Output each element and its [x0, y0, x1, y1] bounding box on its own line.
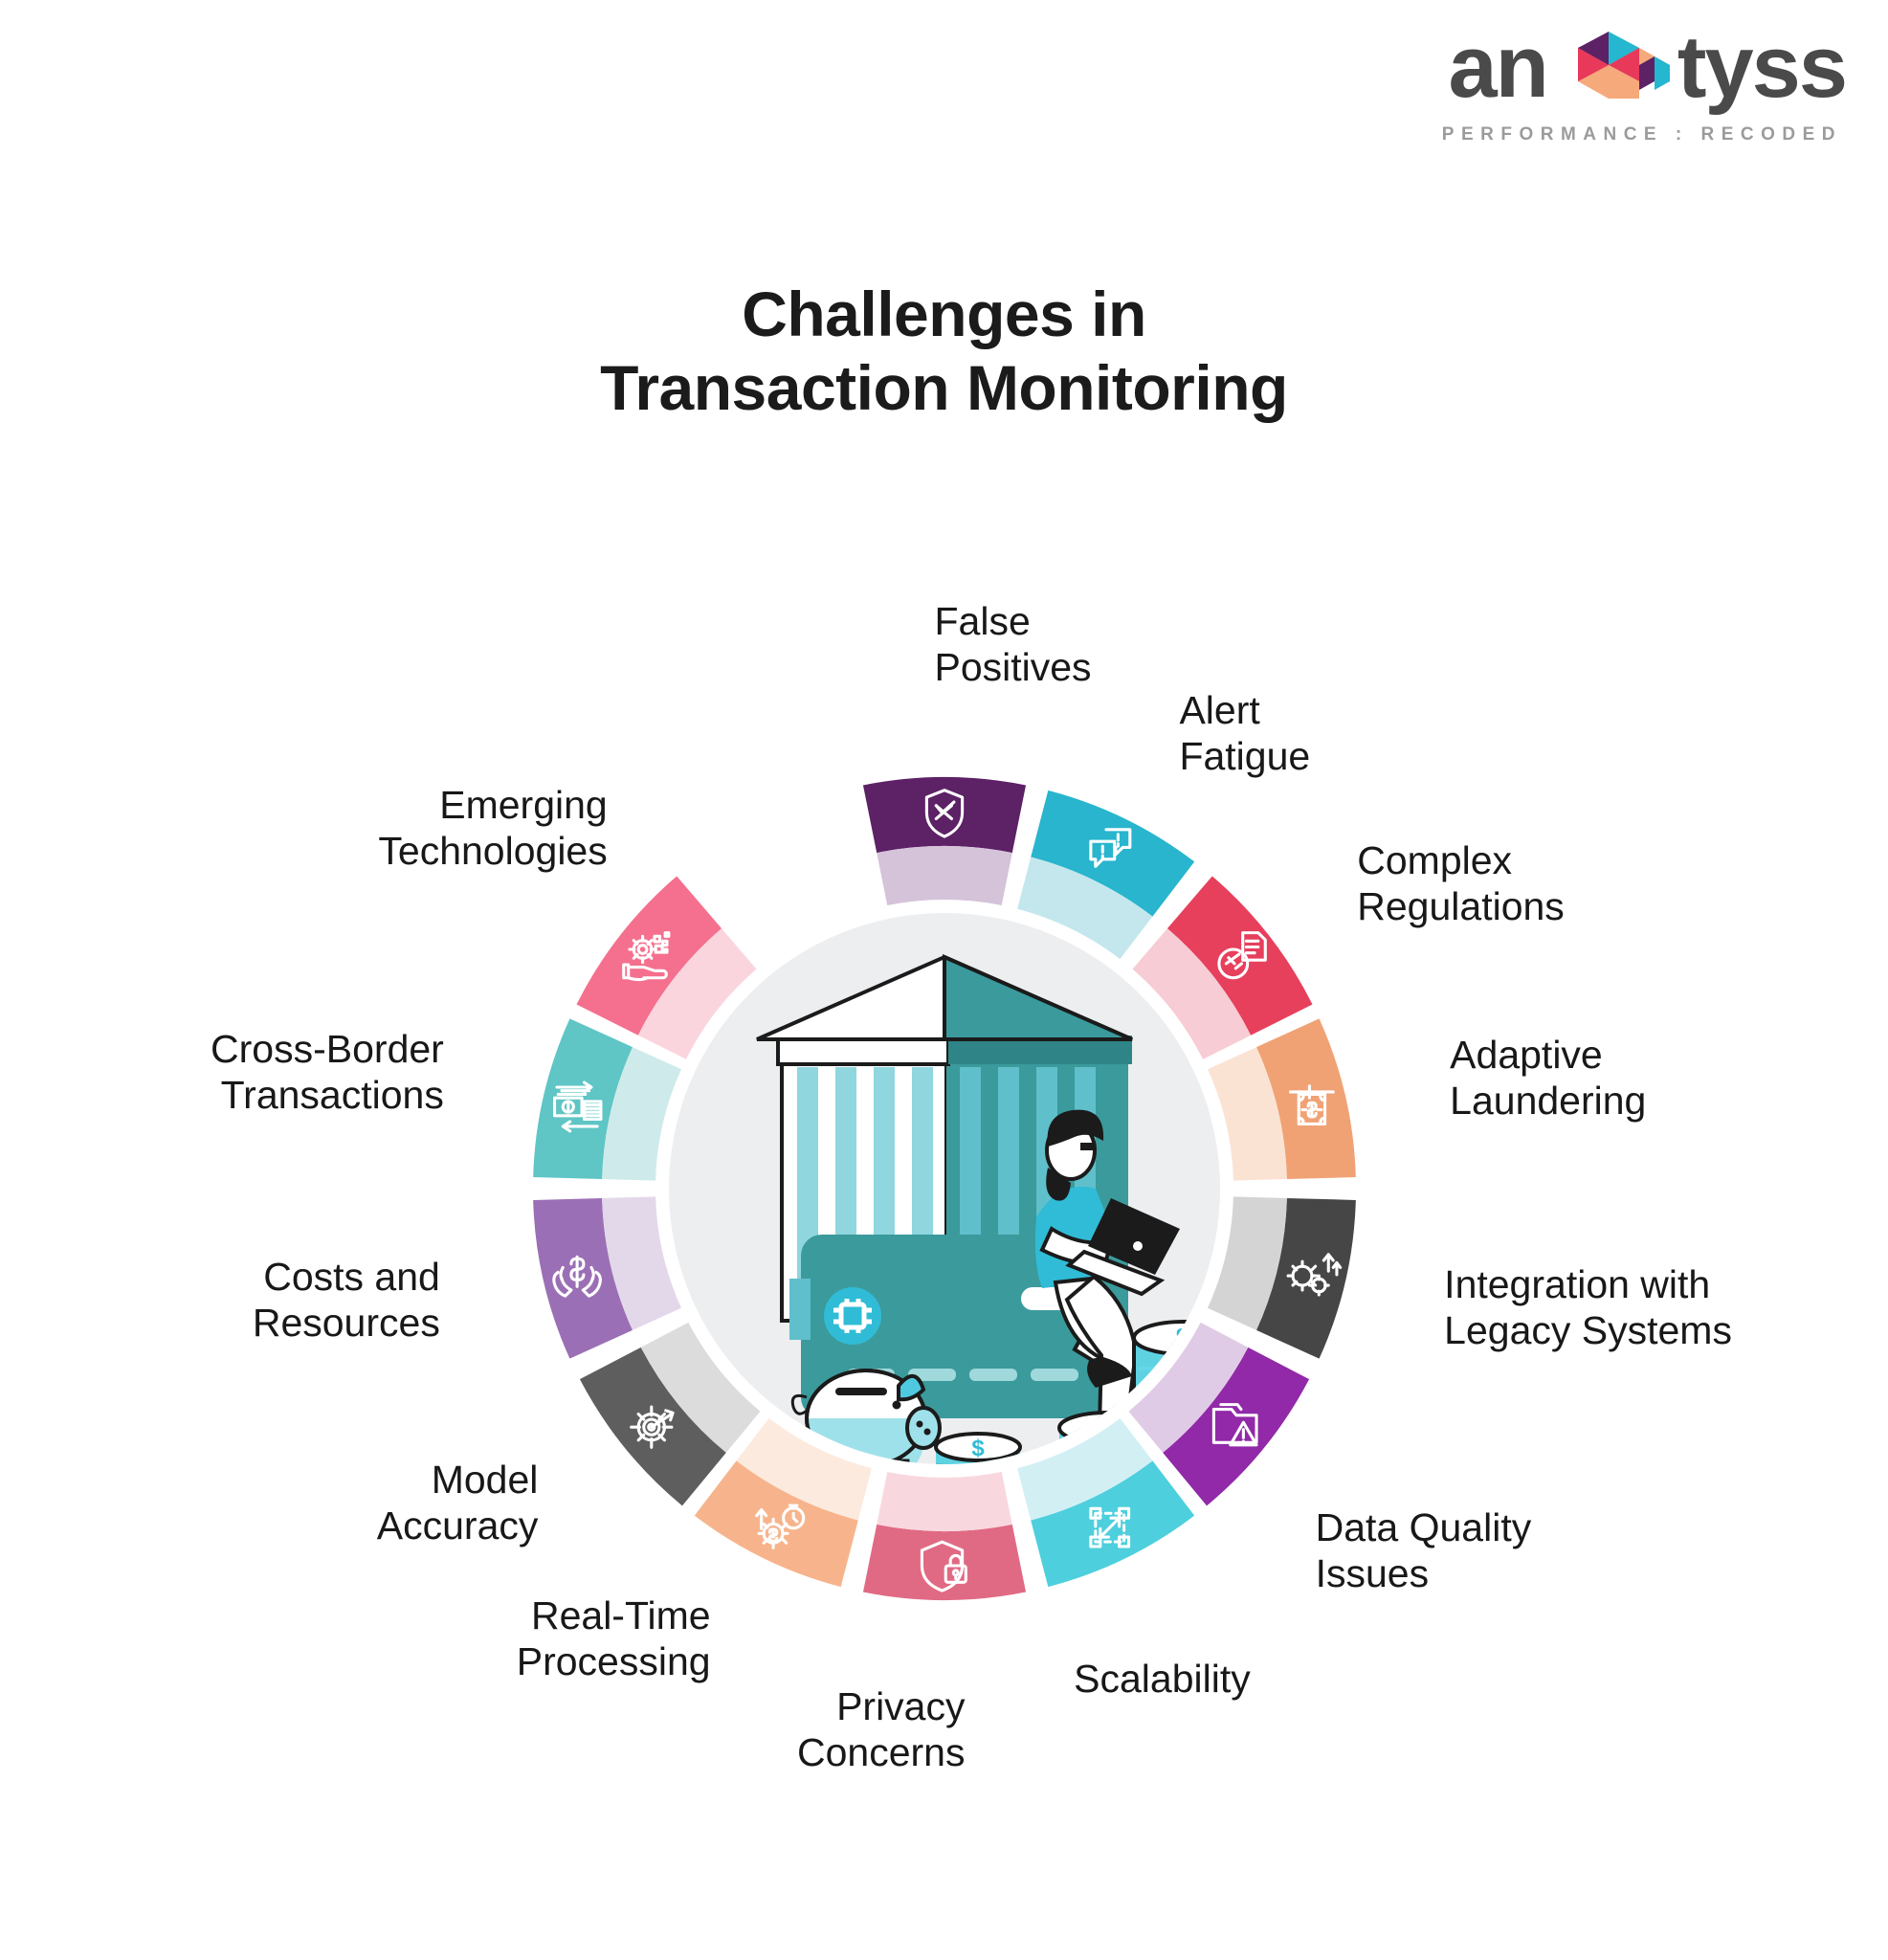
brand-wordmark: an tyss	[1396, 23, 1846, 111]
wheel-segment-label: Model Accuracy	[377, 1458, 539, 1549]
wheel-segment-label: Data Quality Issues	[1316, 1505, 1532, 1597]
wheel-segment-label: Real-Time Processing	[517, 1593, 711, 1685]
page-title: Challenges in Transaction Monitoring	[0, 278, 1888, 424]
svg-text:$: $	[971, 1436, 985, 1461]
wheel-segment-label: Privacy Concerns	[797, 1684, 965, 1776]
wheel-segment-inner[interactable]	[877, 846, 1012, 905]
wheel-segment-inner[interactable]	[877, 1472, 1012, 1531]
anatyss-cube-mark-icon	[1549, 27, 1676, 115]
wheel-segment-label: Cross-Border Transactions	[211, 1027, 444, 1119]
wheel-segment-label: False Positives	[935, 599, 1092, 691]
wheel-segment-label: Complex Regulations	[1357, 838, 1565, 930]
brand-tagline: PERFORMANCE : RECODED	[1396, 124, 1846, 145]
page-title-line-2: Transaction Monitoring	[0, 351, 1888, 425]
wheel-segment-outer[interactable]	[862, 777, 1025, 853]
brand-name-left: an	[1448, 23, 1546, 111]
brand-logo: an tyss PERFORMANCE : RECODED	[1396, 23, 1846, 145]
wheel-svg: $ $ $	[265, 507, 1624, 1876]
page-title-line-1: Challenges in	[0, 278, 1888, 351]
wheel-segment-label: Adaptive Laundering	[1450, 1033, 1646, 1125]
wheel-segment-label: Alert Fatigue	[1179, 688, 1310, 780]
wheel-segment-label: Scalability	[989, 1657, 1334, 1703]
wheel-segment-label: Costs and Resources	[253, 1255, 440, 1347]
wheel-segment-label: Emerging Technologies	[378, 783, 607, 875]
wheel-segment-label: Integration with Legacy Systems	[1444, 1262, 1732, 1354]
brand-name-right: tyss	[1677, 23, 1846, 111]
